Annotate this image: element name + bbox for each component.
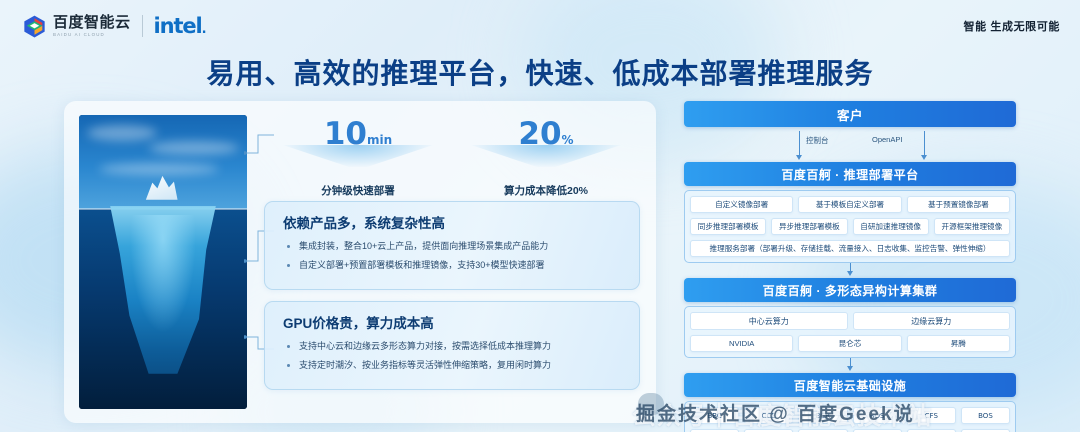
platform-cell-service-deploy[interactable]: 推理服务部署（部署升级、存储挂载、流量接入、日志收集、监控告警、弹性伸缩） bbox=[690, 240, 1010, 257]
feature-card-gpu-cost: GPU价格贵，算力成本高 支持中心云和边缘云多形态算力对接，按需选择低成本推理算… bbox=[264, 301, 640, 390]
platform-cell[interactable]: 异步推理部署模板 bbox=[771, 218, 847, 235]
arch-arrow-platform-to-cluster bbox=[684, 263, 1016, 278]
arrow-line-left bbox=[799, 131, 800, 157]
metric-unit-0: min bbox=[367, 133, 392, 147]
baidu-ai-cloud-logo: 百度智能云 BAIDU AI CLOUD bbox=[22, 14, 131, 39]
feature-card-title-0: 依赖产品多，系统复杂性高 bbox=[283, 212, 625, 232]
feature-bullet: 支持定时潮汐、按业务指标等灵活弹性伸缩策略，复用闲时算力 bbox=[283, 360, 625, 372]
metric-wing-0 bbox=[283, 145, 433, 167]
metric-value-1: 20% bbox=[452, 115, 640, 150]
cluster-chip[interactable]: 昆仑芯 bbox=[798, 335, 901, 352]
arch-arrows-customer-to-platform: 控制台 OpenAPI bbox=[684, 127, 1016, 162]
feature-card-dependency: 依赖产品多，系统复杂性高 集成封装，整合10+云上产品，提供面向推理场景集成产品… bbox=[264, 201, 640, 290]
brand-group: 百度智能云 BAIDU AI CLOUD intel. bbox=[22, 14, 206, 39]
metric-label-0: 分钟级快速部署 bbox=[264, 183, 452, 198]
feature-bullet: 集成封装，整合10+云上产品，提供面向推理场景集成产品能力 bbox=[283, 241, 625, 253]
metric-value-0: 10min bbox=[264, 115, 452, 150]
platform-cell[interactable]: 同步推理部署模板 bbox=[690, 218, 766, 235]
header-tagline-text: 智能 生成无限可能 bbox=[964, 21, 1060, 33]
intel-logo-text: intel bbox=[154, 14, 202, 38]
metric-card-0: 10min 分钟级快速部署 bbox=[264, 115, 452, 193]
intel-logo-dot: . bbox=[202, 22, 206, 37]
arrow-line-right bbox=[924, 131, 925, 157]
baidu-hexagon-icon bbox=[22, 14, 47, 39]
arrow-line bbox=[850, 263, 851, 271]
arch-bar-customer: 客户 bbox=[684, 101, 1016, 127]
cluster-chip[interactable]: NVIDIA bbox=[690, 335, 793, 352]
arch-bar-infrastructure: 百度智能云基础设施 bbox=[684, 373, 1016, 397]
arrow-head bbox=[847, 366, 853, 371]
infra-tag[interactable]: CCE bbox=[744, 407, 793, 424]
cluster-panel: 中心云算力 边缘云算力 NVIDIA 昆仑芯 昇腾 bbox=[684, 306, 1016, 358]
platform-grid-row-1: 同步推理部署模板 异步推理部署模板 自研加速推理镜像 开源框架推理镜像 bbox=[690, 218, 1010, 235]
infra-tag[interactable]: BCR bbox=[798, 407, 847, 424]
cloud-shape bbox=[87, 125, 157, 141]
brand-divider bbox=[142, 15, 143, 37]
iceberg-illustration bbox=[79, 115, 247, 409]
feature-bullet: 支持中心云和边缘云多形态算力对接，按需选择低成本推理算力 bbox=[283, 341, 625, 353]
cluster-chip[interactable]: 昇腾 bbox=[907, 335, 1010, 352]
platform-cell[interactable]: 基于模板自定义部署 bbox=[798, 196, 901, 213]
infra-tag[interactable]: RDS bbox=[853, 407, 902, 424]
metric-card-1: 20% 算力成本降低20% bbox=[452, 115, 640, 193]
infra-tag-row-0: BBC CCE BCR RDS CFS BOS bbox=[690, 407, 1010, 424]
baidu-logo-sub: BAIDU AI CLOUD bbox=[53, 33, 131, 37]
feature-bullet-list-1: 支持中心云和边缘云多形态算力对接，按需选择低成本推理算力 支持定时潮汐、按业务指… bbox=[283, 341, 625, 371]
cluster-chip-row: NVIDIA 昆仑芯 昇腾 bbox=[690, 335, 1010, 352]
intel-logo: intel. bbox=[154, 14, 206, 38]
left-content-panel: 10min 分钟级快速部署 20% 算力成本降低20% 依赖产品多，系统复杂性高… bbox=[64, 101, 656, 423]
platform-cell[interactable]: 自研加速推理镜像 bbox=[853, 218, 929, 235]
watermark-bubble-icon bbox=[638, 393, 664, 415]
cluster-subhead[interactable]: 边缘云算力 bbox=[853, 312, 1011, 330]
infrastructure-panel: BBC CCE BCR RDS CFS BOS BLS BCM VPC EIP … bbox=[684, 401, 1016, 432]
cloud-shape bbox=[99, 163, 219, 175]
baidu-wordmark: 百度智能云 BAIDU AI CLOUD bbox=[53, 15, 131, 37]
infra-tag[interactable]: CFS bbox=[907, 407, 956, 424]
arch-arrow-cluster-to-infra bbox=[684, 358, 1016, 373]
metric-wing-1 bbox=[471, 145, 621, 167]
architecture-diagram: 客户 控制台 OpenAPI 百度百舸 · 推理部署平台 自定义镜像部署 基于模… bbox=[684, 101, 1016, 432]
arrow-label-openapi: OpenAPI bbox=[872, 135, 902, 144]
feature-card-title-1: GPU价格贵，算力成本高 bbox=[283, 312, 625, 332]
metric-label-1: 算力成本降低20% bbox=[452, 183, 640, 198]
header-tagline: 智能 生成无限可能 bbox=[964, 18, 1060, 34]
platform-cell[interactable]: 自定义镜像部署 bbox=[690, 196, 793, 213]
arch-bar-platform: 百度百舸 · 推理部署平台 bbox=[684, 162, 1016, 186]
metric-unit-1: % bbox=[562, 133, 574, 147]
arrow-head bbox=[847, 271, 853, 276]
metrics-row: 10min 分钟级快速部署 20% 算力成本降低20% bbox=[264, 115, 640, 193]
platform-cell[interactable]: 基于预置镜像部署 bbox=[907, 196, 1010, 213]
platform-grid-row-0: 自定义镜像部署 基于模板自定义部署 基于预置镜像部署 bbox=[690, 196, 1010, 213]
arrow-head-right bbox=[921, 155, 927, 160]
arrow-label-console: 控制台 bbox=[806, 135, 829, 146]
cluster-subhead[interactable]: 中心云算力 bbox=[690, 312, 848, 330]
arrow-head-left bbox=[796, 155, 802, 160]
cloud-shape bbox=[149, 141, 239, 155]
arrow-line bbox=[850, 358, 851, 366]
feature-bullet: 自定义部署+预置部署模板和推理镜像，支持30+模型快速部署 bbox=[283, 260, 625, 272]
platform-cell[interactable]: 开源框架推理镜像 bbox=[934, 218, 1010, 235]
baidu-logo-cn: 百度智能云 bbox=[53, 15, 131, 30]
iceberg-glow bbox=[130, 215, 196, 333]
infra-tag[interactable]: BOS bbox=[961, 407, 1010, 424]
arch-bar-cluster: 百度百舸 · 多形态异构计算集群 bbox=[684, 278, 1016, 302]
platform-capability-panel: 自定义镜像部署 基于模板自定义部署 基于预置镜像部署 同步推理部署模板 异步推理… bbox=[684, 190, 1016, 263]
header-bar: 百度智能云 BAIDU AI CLOUD intel. 智能 生成无限可能 bbox=[0, 0, 1080, 52]
page-title: 易用、高效的推理平台，快速、低成本部署推理服务 bbox=[0, 52, 1080, 92]
feature-bullet-list-0: 集成封装，整合10+云上产品，提供面向推理场景集成产品能力 自定义部署+预置部署… bbox=[283, 241, 625, 271]
cluster-subhead-row: 中心云算力 边缘云算力 bbox=[690, 312, 1010, 330]
platform-grid-row-2: 推理服务部署（部署升级、存储挂载、流量接入、日志收集、监控告警、弹性伸缩） bbox=[690, 240, 1010, 257]
infra-tag[interactable]: BBC bbox=[690, 407, 739, 424]
